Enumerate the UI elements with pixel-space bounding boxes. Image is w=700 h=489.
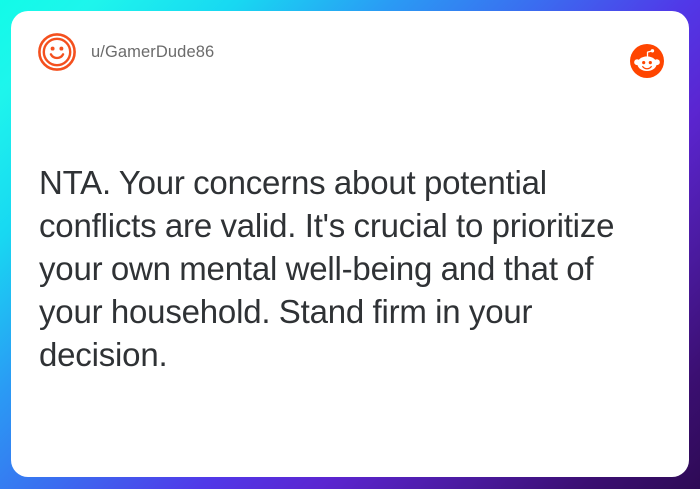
gradient-background: u/GamerDude86 NTA. Your concerns ab <box>0 0 700 489</box>
card-header: u/GamerDude86 <box>11 11 689 93</box>
post-text: NTA. Your concerns about potential confl… <box>39 161 665 376</box>
author-block[interactable]: u/GamerDude86 <box>37 32 214 72</box>
author-username: u/GamerDude86 <box>91 44 214 61</box>
reddit-snoo-icon[interactable] <box>630 44 664 78</box>
reddit-comment-card: u/GamerDude86 NTA. Your concerns ab <box>11 11 689 477</box>
smiley-face-icon <box>37 32 77 72</box>
avatar <box>37 32 77 72</box>
card-body: NTA. Your concerns about potential confl… <box>39 161 665 376</box>
